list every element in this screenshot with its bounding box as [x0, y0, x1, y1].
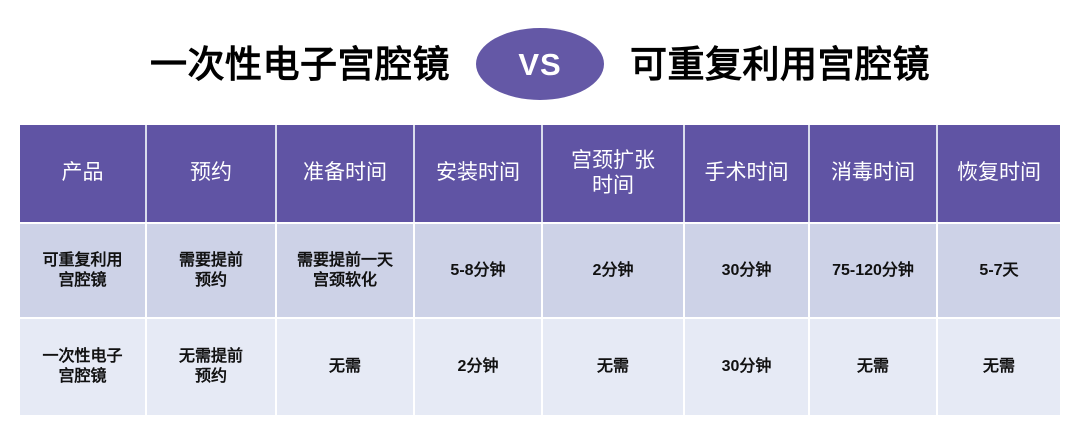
column-header-label: 预约	[151, 161, 271, 186]
cell-text-2: 宫颈软化	[281, 271, 409, 291]
column-header-recovery-time: 恢复时间	[938, 125, 1060, 222]
cell-text-2: 预约	[151, 367, 271, 387]
table-cell: 需要提前一天 宫颈软化	[277, 222, 415, 317]
table-row-disposable: 一次性电子 宫腔镜 无需提前 预约 无需	[20, 317, 1060, 415]
cell-text-2: 宫腔镜	[24, 271, 141, 291]
cell-text-2: 宫腔镜	[24, 367, 141, 387]
table-cell: 5-8分钟	[415, 222, 543, 317]
title-left-product: 一次性电子宫腔镜	[150, 46, 450, 83]
cell-text: 可重复利用	[24, 251, 141, 271]
column-header-installation-time: 安装时间	[415, 125, 543, 222]
column-header-label: 手术时间	[689, 161, 804, 186]
column-header-label-2: 时间	[547, 174, 679, 199]
cell-text: 需要提前	[151, 251, 271, 271]
table-cell: 需要提前 预约	[147, 222, 277, 317]
vs-badge-label: VS	[518, 49, 561, 80]
column-header-product: 产品	[20, 125, 147, 222]
cell-text: 无需	[281, 357, 409, 377]
title-row: 一次性电子宫腔镜 VS 可重复利用宫腔镜	[0, 26, 1080, 102]
cell-text-2: 预约	[151, 271, 271, 291]
table-cell: 30分钟	[685, 317, 810, 415]
table-cell: 2分钟	[415, 317, 543, 415]
title-right-product: 可重复利用宫腔镜	[630, 46, 930, 83]
column-header-label: 准备时间	[281, 161, 409, 186]
table-cell: 无需提前 预约	[147, 317, 277, 415]
comparison-infographic: 一次性电子宫腔镜 VS 可重复利用宫腔镜 产品 预约	[0, 0, 1080, 427]
column-header-cervical-dilation-time: 宫颈扩张 时间	[543, 125, 685, 222]
table-cell: 无需	[277, 317, 415, 415]
column-header-label: 产品	[24, 161, 141, 186]
cell-text: 无需提前	[151, 347, 271, 367]
cell-text: 5-7天	[942, 261, 1056, 281]
cell-text: 5-8分钟	[419, 261, 537, 281]
table-header-row: 产品 预约 准备时间	[20, 125, 1060, 222]
table-cell: 30分钟	[685, 222, 810, 317]
cell-text: 一次性电子	[24, 347, 141, 367]
cell-text: 无需	[942, 357, 1056, 377]
cell-text: 30分钟	[689, 261, 804, 281]
cell-text: 2分钟	[547, 261, 679, 281]
column-header-disinfection-time: 消毒时间	[810, 125, 938, 222]
column-header-surgery-time: 手术时间	[685, 125, 810, 222]
table-cell: 无需	[543, 317, 685, 415]
table-cell: 5-7天	[938, 222, 1060, 317]
cell-text: 75-120分钟	[814, 261, 932, 281]
table-header: 产品 预约 准备时间	[20, 125, 1060, 222]
table-cell: 无需	[938, 317, 1060, 415]
table-row-reusable: 可重复利用 宫腔镜 需要提前 预约 需要提前一天 宫颈软化	[20, 222, 1060, 317]
column-header-appointment: 预约	[147, 125, 277, 222]
table-cell: 无需	[810, 317, 938, 415]
cell-text: 无需	[547, 357, 679, 377]
column-header-label: 恢复时间	[942, 161, 1056, 186]
table-cell: 2分钟	[543, 222, 685, 317]
column-header-label: 消毒时间	[814, 161, 932, 186]
column-header-label: 安装时间	[419, 161, 537, 186]
table-cell: 75-120分钟	[810, 222, 938, 317]
table-cell: 可重复利用 宫腔镜	[20, 222, 147, 317]
cell-text: 无需	[814, 357, 932, 377]
cell-text: 2分钟	[419, 357, 537, 377]
comparison-table: 产品 预约 准备时间	[20, 125, 1060, 415]
column-header-label: 宫颈扩张	[547, 149, 679, 174]
cell-text: 30分钟	[689, 357, 804, 377]
table-body: 可重复利用 宫腔镜 需要提前 预约 需要提前一天 宫颈软化	[20, 222, 1060, 415]
vs-badge: VS	[476, 28, 604, 100]
table-cell: 一次性电子 宫腔镜	[20, 317, 147, 415]
column-header-preparation-time: 准备时间	[277, 125, 415, 222]
cell-text: 需要提前一天	[281, 251, 409, 271]
